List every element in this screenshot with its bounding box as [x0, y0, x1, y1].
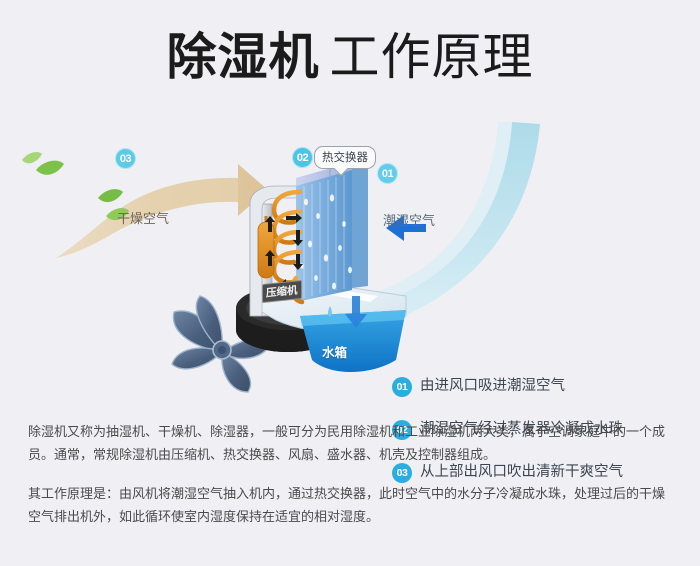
label-humid-air: 潮湿空气: [383, 210, 435, 229]
legend-item-01: 01 由进风口吸进潮湿空气: [392, 375, 692, 418]
body-paragraph-2: 其工作原理是：由风机将潮湿空气抽入机内，通过热交换器，此时空气中的水分子冷凝成水…: [28, 482, 676, 528]
legend-badge-01: 01: [392, 377, 412, 397]
diagram-badge-03: 03: [115, 148, 136, 169]
body-paragraph-1: 除湿机又称为抽湿机、干燥机、除湿器，一般可分为民用除湿机和工业除湿机两大类，属于…: [28, 420, 676, 466]
label-dry-air: 干燥空气: [117, 208, 169, 227]
legend-text-01: 由进风口吸进潮湿空气: [420, 375, 565, 397]
callout-heat-exchanger: 热交换器: [314, 146, 376, 169]
diagram-badge-02: 02: [292, 147, 313, 168]
body-copy: 除湿机又称为抽湿机、干燥机、除湿器，一般可分为民用除湿机和工业除湿机两大类，属于…: [28, 420, 676, 528]
page-title: 除湿机工作原理: [0, 28, 700, 86]
diagram-badge-01: 01: [377, 163, 398, 184]
label-water-tank: 水箱: [322, 342, 347, 361]
dehumidifier-diagram: 03 02 01 干燥空气 潮湿空气 水箱 压缩机 热交换器 01 由进风口吸进…: [0, 120, 700, 395]
leaf-decor: [22, 152, 129, 220]
page-title-secondary: 工作原理: [330, 29, 534, 85]
page-title-primary: 除湿机: [167, 29, 320, 85]
